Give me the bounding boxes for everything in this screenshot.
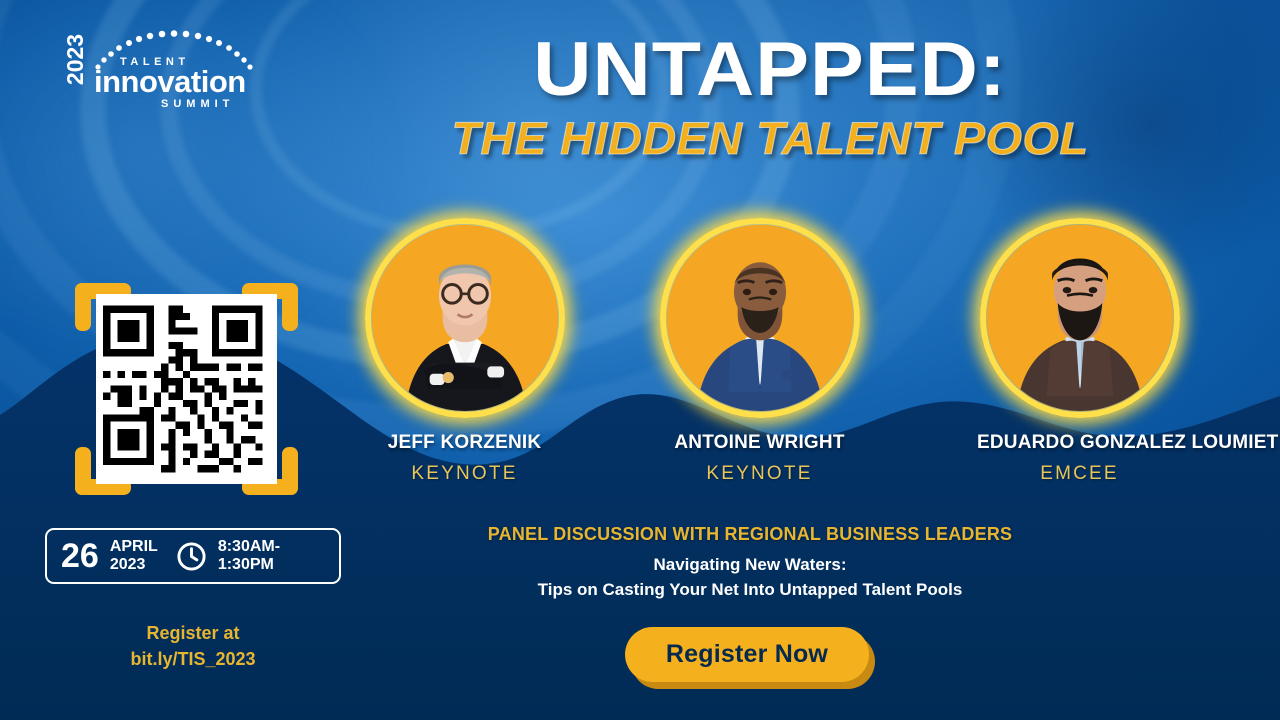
event-time-end: 1:30PM xyxy=(218,556,280,574)
register-at-label: Register at xyxy=(45,620,341,646)
panel-subtitle-line2: Tips on Casting Your Net Into Untapped T… xyxy=(390,580,1110,600)
avatar xyxy=(980,218,1180,418)
event-month-year: APRIL 2023 xyxy=(110,538,158,574)
clock-icon xyxy=(176,541,207,572)
event-time: 8:30AM- 1:30PM xyxy=(218,538,280,574)
speaker-portrait-1 xyxy=(372,225,558,411)
event-month: APRIL xyxy=(110,538,158,556)
logo-year: 2023 xyxy=(62,34,89,85)
speaker-card: ANTOINE WRIGHT KEYNOTE xyxy=(657,218,862,485)
avatar xyxy=(365,218,565,418)
event-time-start: 8:30AM- xyxy=(218,538,280,556)
speaker-name: EDUARDO GONZALEZ LOUMIET xyxy=(977,432,1182,454)
register-now-wrap: Register Now xyxy=(625,627,875,689)
speaker-role: KEYNOTE xyxy=(657,463,862,485)
qr-code[interactable] xyxy=(75,283,298,495)
summit-logo: 2023 TALENT inn xyxy=(56,26,266,110)
logo-innovation-text: innovation xyxy=(94,64,246,100)
speaker-role: EMCEE xyxy=(977,463,1182,485)
qr-matrix xyxy=(96,294,277,484)
register-url[interactable]: bit.ly/TIS_2023 xyxy=(45,646,341,672)
speaker-card: EDUARDO GONZALEZ LOUMIET EMCEE xyxy=(977,218,1182,485)
panel-subtitle-line1: Navigating New Waters: xyxy=(390,555,1110,575)
speaker-portrait-3 xyxy=(987,225,1173,411)
register-link-block[interactable]: Register at bit.ly/TIS_2023 xyxy=(45,620,341,672)
panel-title: PANEL DISCUSSION WITH REGIONAL BUSINESS … xyxy=(390,524,1110,545)
headline-main: UNTAPPED: xyxy=(335,34,1204,106)
event-day: 26 xyxy=(61,539,99,573)
panel-discussion-block: PANEL DISCUSSION WITH REGIONAL BUSINESS … xyxy=(390,524,1110,600)
speaker-role: KEYNOTE xyxy=(362,463,567,485)
speaker-card: JEFF KORZENIK KEYNOTE xyxy=(362,218,567,485)
speaker-name: JEFF KORZENIK xyxy=(362,432,567,454)
headline-block: UNTAPPED: THE HIDDEN TALENT POOL xyxy=(360,34,1180,161)
headline-subtitle: THE HIDDEN TALENT POOL xyxy=(344,116,1197,161)
speakers-row: JEFF KORZENIK KEYNOTE xyxy=(340,218,1240,488)
event-poster: 2023 TALENT inn xyxy=(0,0,1280,720)
logo-summit-text: SUMMIT xyxy=(161,98,234,110)
event-date-time: 26 APRIL 2023 8:30AM- 1:30PM xyxy=(45,528,341,584)
speaker-portrait-2 xyxy=(667,225,853,411)
register-now-button[interactable]: Register Now xyxy=(625,627,869,682)
avatar xyxy=(660,218,860,418)
speaker-name: ANTOINE WRIGHT xyxy=(657,432,862,454)
event-year: 2023 xyxy=(110,556,158,574)
